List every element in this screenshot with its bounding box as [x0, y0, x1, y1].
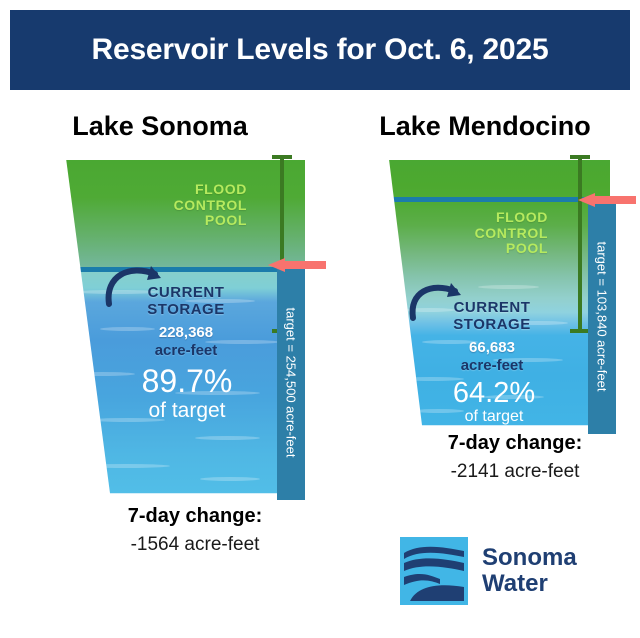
current-storage-label-line-1: CURRENT	[117, 285, 255, 302]
page-title: Reservoir Levels for Oct. 6, 2025	[92, 33, 549, 67]
target-label-sonoma: target = 254,500 acre-feet	[284, 308, 299, 458]
flood-control-pool-label-mendocino: FLOOD CONTROL POOL	[418, 210, 548, 257]
fcp-line-1: FLOOD	[117, 182, 247, 198]
logo-line-1: Sonoma	[482, 545, 577, 570]
reservoir-diagram-mendocino: FLOOD CONTROL POOL CURRENT STORAGE 66,68…	[375, 160, 610, 432]
sonoma-water-logo: Sonoma Water	[400, 533, 600, 608]
measure-cap-top	[272, 155, 292, 159]
infographic-canvas: Reservoir Levels for Oct. 6, 2025 Lake S…	[0, 0, 640, 638]
current-storage-block-mendocino: CURRENT STORAGE 66,683 acre-feet	[423, 300, 561, 375]
fcp-line-2: CONTROL	[418, 226, 548, 242]
fcp-line-3: POOL	[418, 241, 548, 257]
percent-caption-sonoma: of target	[107, 399, 267, 422]
seven-day-change-title-mendocino: 7-day change:	[395, 432, 635, 455]
seven-day-change-mendocino: 7-day change: -2141 acre-feet	[395, 432, 635, 483]
lake-title-sonoma: Lake Sonoma	[20, 111, 300, 142]
target-bar-sonoma: target = 254,500 acre-feet	[277, 265, 305, 500]
measure-cap-top	[570, 155, 590, 159]
percent-of-target-block-mendocino: 64.2% of target	[419, 378, 569, 426]
target-pointer-arrow-icon-sonoma	[268, 258, 326, 269]
percent-value-mendocino: 64.2%	[419, 378, 569, 408]
percent-value-sonoma: 89.7%	[107, 365, 267, 399]
current-storage-units-sonoma: acre-feet	[117, 342, 255, 360]
fcp-line-1: FLOOD	[418, 210, 548, 226]
current-storage-units-mendocino: acre-feet	[423, 357, 561, 375]
current-storage-label-line-1: CURRENT	[423, 300, 561, 317]
measure-cap-bottom	[570, 329, 590, 333]
logo-line-2: Water	[482, 571, 577, 596]
target-bar-mendocino: target = 103,840 acre-feet	[588, 199, 616, 434]
seven-day-change-title-sonoma: 7-day change:	[75, 505, 315, 528]
current-storage-label-line-2: STORAGE	[117, 302, 255, 319]
measure-stem	[578, 155, 582, 333]
reservoir-diagram-sonoma: FLOOD CONTROL POOL CURRENT STORAGE 228,3…	[55, 160, 305, 500]
arrow-head	[268, 258, 285, 272]
percent-caption-mendocino: of target	[419, 408, 569, 426]
target-pointer-arrow-icon-mendocino	[578, 193, 636, 204]
current-storage-label-line-2: STORAGE	[423, 317, 561, 334]
logo-wordmark: Sonoma Water	[482, 545, 577, 596]
fcp-line-2: CONTROL	[117, 198, 247, 214]
header-banner: Reservoir Levels for Oct. 6, 2025	[10, 10, 630, 90]
seven-day-change-sonoma: 7-day change: -1564 acre-feet	[75, 505, 315, 556]
arrow-shaft	[284, 261, 326, 269]
target-label-mendocino: target = 103,840 acre-feet	[595, 242, 610, 392]
target-measure-line-mendocino	[570, 155, 590, 333]
sonoma-water-wave-mark-icon	[400, 537, 468, 605]
current-storage-value-mendocino: 66,683	[423, 339, 561, 357]
percent-of-target-block-sonoma: 89.7% of target	[107, 365, 267, 422]
arrow-shaft	[594, 196, 636, 204]
fcp-line-3: POOL	[117, 213, 247, 229]
flood-control-pool-label-sonoma: FLOOD CONTROL POOL	[117, 182, 247, 229]
arrow-head	[578, 193, 595, 207]
seven-day-change-value-sonoma: -1564 acre-feet	[75, 534, 315, 556]
current-storage-value-sonoma: 228,368	[117, 324, 255, 342]
seven-day-change-value-mendocino: -2141 acre-feet	[395, 461, 635, 483]
lake-title-mendocino: Lake Mendocino	[345, 111, 625, 142]
current-storage-block-sonoma: CURRENT STORAGE 228,368 acre-feet	[117, 285, 255, 360]
